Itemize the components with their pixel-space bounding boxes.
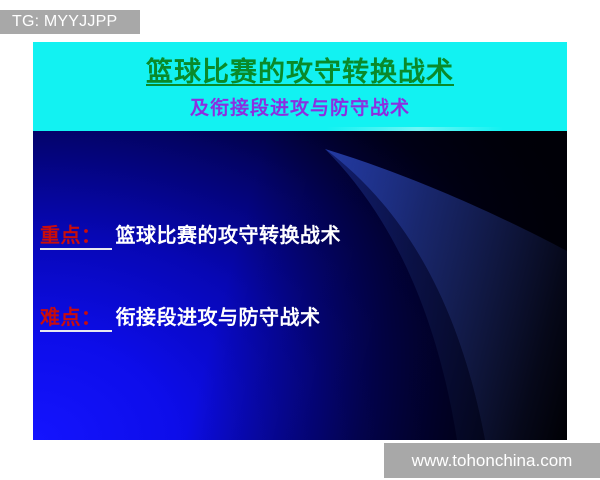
slide-title: 篮球比赛的攻守转换战术: [33, 50, 567, 89]
telegram-watermark: TG: MYYJJPP: [0, 10, 140, 34]
slide-content-area: 重点：篮球比赛的攻守转换战术 难点：衔接段进攻与防守战术: [33, 131, 567, 440]
content-dark-overlay: [33, 131, 567, 440]
bullet-label: 重点：: [40, 223, 112, 250]
bullet-text: 篮球比赛的攻守转换战术: [116, 223, 342, 247]
curved-wing-decoration: [307, 131, 567, 440]
slide-subtitle: 及衔接段进攻与防守战术: [33, 93, 567, 120]
bullet-line: 难点：衔接段进攻与防守战术: [40, 301, 321, 330]
slide-title-band: 篮球比赛的攻守转换战术 及衔接段进攻与防守战术: [33, 42, 567, 131]
bullet-label: 难点：: [40, 305, 112, 332]
bullet-line: 重点：篮球比赛的攻守转换战术: [40, 219, 341, 248]
site-url-footer: www.tohonchina.com: [384, 443, 600, 478]
presentation-slide: 篮球比赛的攻守转换战术 及衔接段进攻与防守战术 重点：篮球比赛的攻守转换战术 难…: [33, 42, 567, 440]
bullet-text: 衔接段进攻与防守战术: [116, 305, 321, 329]
